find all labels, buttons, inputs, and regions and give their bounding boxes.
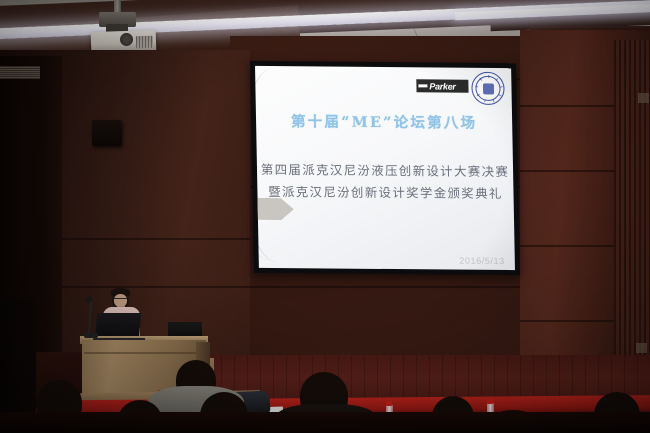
table-front-shadow xyxy=(0,412,650,433)
university-seal-emblem-icon xyxy=(482,83,493,94)
microphone-base xyxy=(84,333,98,338)
eyeglasses-icon xyxy=(114,298,127,302)
projector-vent-icon xyxy=(136,36,153,49)
projection-screen-frame: Parker 第十届“ME”论坛第八场 第四届派克汉尼汾液压创新设计 xyxy=(250,61,520,275)
slide-subtitle-line-1: 第四届派克汉尼汾液压创新设计大赛决赛 xyxy=(257,160,513,180)
bottle-cap-icon xyxy=(487,399,493,404)
slide-subtitle-line-2: 暨派克汉尼汾创新设计奖学金颁奖典礼 xyxy=(257,182,513,202)
podium-front-edge xyxy=(84,352,202,354)
bottle-cap-icon xyxy=(386,401,392,406)
wall-speaker-icon xyxy=(92,120,122,146)
parker-logo: Parker xyxy=(416,79,468,92)
wall-air-vent xyxy=(0,66,40,79)
conference-hall-scene: Parker 第十届“ME”论坛第八场 第四届派克汉尼汾液压创新设计 xyxy=(0,0,650,433)
slide-date: 2016/5/13 xyxy=(459,256,505,266)
slide-title: 第十届“ME”论坛第八场 xyxy=(256,110,512,133)
wall-outlet-plate[interactable] xyxy=(636,343,647,353)
presentation-slide: Parker 第十届“ME”论坛第八场 第四届派克汉尼汾液压创新设计 xyxy=(255,66,515,270)
microphone-icon xyxy=(85,296,92,303)
projection-screen-surface: Parker 第十届“ME”论坛第八场 第四届派克汉尼汾液压创新设计 xyxy=(255,66,515,270)
wall-switch-plate[interactable] xyxy=(638,93,649,103)
parker-logo-dash-icon xyxy=(418,84,427,87)
university-seal xyxy=(471,72,505,105)
parker-logo-text: Parker xyxy=(429,81,455,91)
